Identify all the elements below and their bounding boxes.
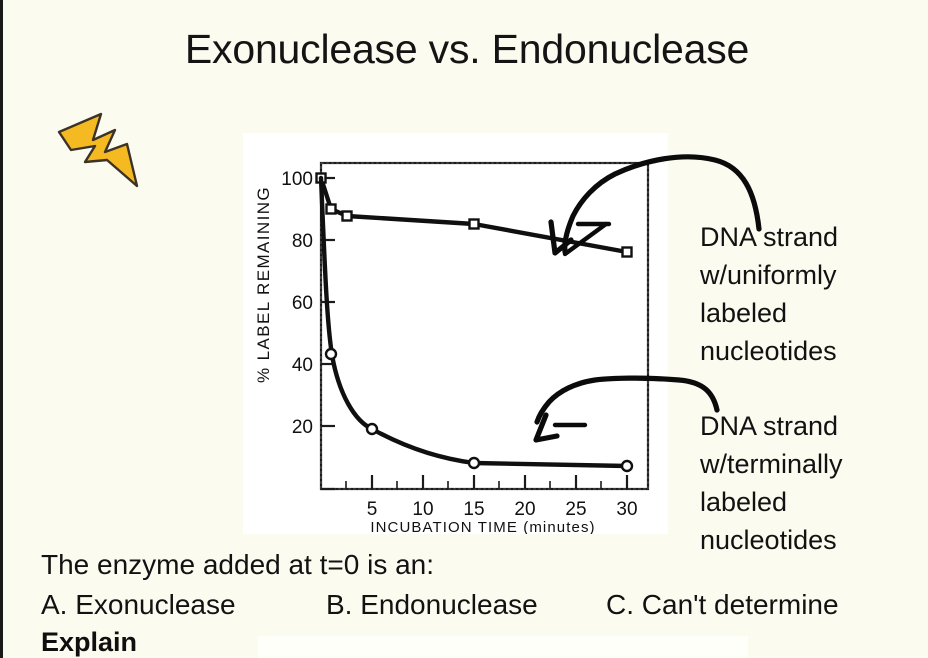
callout-line: labeled — [700, 294, 838, 332]
svg-text:40: 40 — [292, 355, 313, 376]
answer-choice-c[interactable]: C. Can't determine — [606, 588, 839, 622]
slide-canvas: Exonuclease vs. Endonuclease — [0, 0, 928, 658]
lightning-bolt-icon — [55, 104, 165, 196]
answer-choice-a[interactable]: A. Exonuclease — [41, 588, 326, 622]
answer-choice-b[interactable]: B. Endonuclease — [326, 588, 606, 622]
figure-panel: 100 80 60 40 20 % LABEL REMAINING — [243, 133, 668, 534]
x-axis-title: INCUBATION TIME (minutes) — [370, 519, 595, 534]
svg-text:60: 60 — [292, 293, 313, 314]
svg-text:20: 20 — [292, 417, 313, 438]
answer-choices: A. ExonucleaseB. EndonucleaseC. Can't de… — [41, 588, 921, 622]
callout-line: w/terminally — [700, 445, 843, 483]
svg-text:10: 10 — [412, 499, 433, 520]
callout-line: labeled — [700, 483, 843, 521]
svg-text:30: 30 — [616, 499, 637, 520]
callout-line: DNA strand — [700, 407, 843, 445]
svg-text:20: 20 — [514, 499, 535, 520]
explain-label: Explain — [41, 626, 921, 658]
callout-line: w/uniformly — [700, 256, 838, 294]
page-title: Exonuclease vs. Endonuclease — [3, 26, 928, 73]
callout-uniformly-labeled: DNA strand w/uniformly labeled nucleotid… — [700, 218, 838, 370]
svg-text:15: 15 — [463, 499, 484, 520]
svg-text:25: 25 — [565, 499, 586, 520]
y-axis-title: % LABEL REMAINING — [254, 186, 273, 383]
callout-line: DNA strand — [700, 218, 838, 256]
question-block: The enzyme added at t=0 is an: A. Exonuc… — [41, 548, 921, 658]
callout-line: nucleotides — [700, 332, 838, 370]
svg-text:80: 80 — [292, 231, 313, 252]
label-remaining-chart: 100 80 60 40 20 % LABEL REMAINING — [243, 133, 668, 534]
callout-terminally-labeled: DNA strand w/terminally labeled nucleoti… — [700, 407, 843, 559]
svg-text:5: 5 — [367, 499, 378, 520]
svg-text:100: 100 — [281, 169, 313, 190]
question-prompt: The enzyme added at t=0 is an: — [41, 548, 921, 582]
